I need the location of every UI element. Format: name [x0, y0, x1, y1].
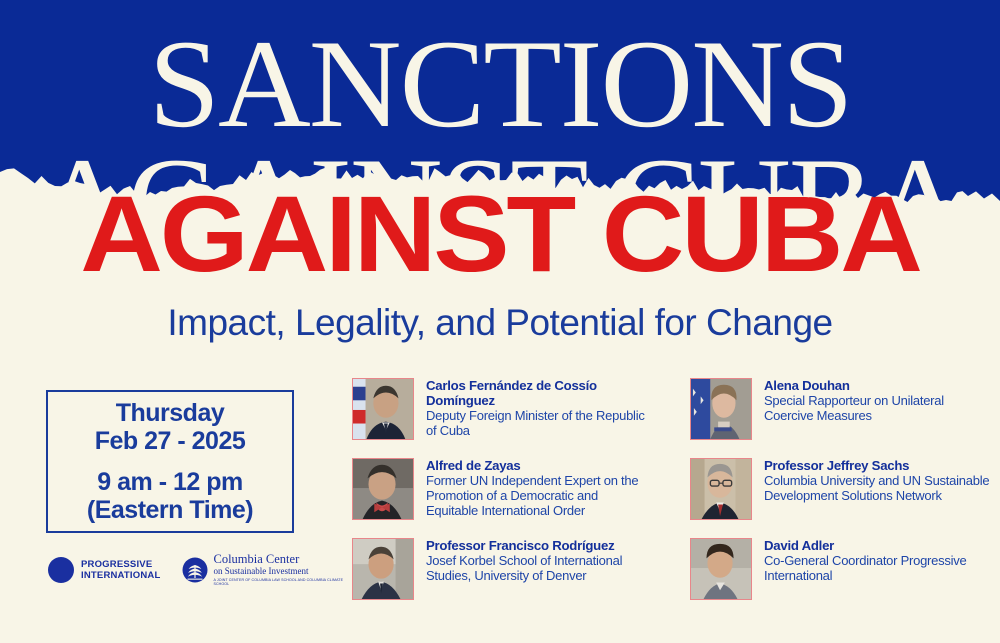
cc-logo-line-1: Columbia Center [213, 553, 348, 566]
speaker-text: David Adler Co-General Coordinator Progr… [764, 538, 990, 584]
speaker-item: Alfred de Zayas Former UN Independent Ex… [352, 458, 652, 520]
columbia-center-logo-text: Columbia Center on Sustainable Investmen… [213, 553, 348, 588]
progressive-international-logo: PROGRESSIVE INTERNATIONAL [48, 557, 160, 583]
cc-logo-line-3: A JOINT CENTER OF COLUMBIA LAW SCHOOL AN… [213, 578, 348, 588]
event-time: 9 am - 12 pm [87, 468, 253, 496]
speaker-name: Carlos Fernández de Cossío Domínguez [426, 379, 652, 409]
speaker-text: Professor Jeffrey Sachs Columbia Univers… [764, 458, 990, 504]
avatar [690, 378, 752, 440]
torn-blue-band: SANCTIONS AGAINST CUBA [0, 0, 1000, 215]
speaker-text: Carlos Fernández de Cossío Domínguez Dep… [426, 378, 652, 439]
speaker-item: Professor Jeffrey Sachs Columbia Univers… [690, 458, 990, 520]
circle-icon [48, 557, 74, 583]
avatar [690, 538, 752, 600]
avatar [352, 458, 414, 520]
speaker-item: Carlos Fernández de Cossío Domínguez Dep… [352, 378, 652, 440]
cc-logo-line-2: on Sustainable Investment [213, 566, 348, 577]
logo-row: PROGRESSIVE INTERNATIONAL [48, 548, 348, 592]
speaker-role: Former UN Independent Expert on the Prom… [426, 474, 652, 518]
speaker-role: Co-General Coordinator Progressive Inter… [764, 554, 990, 584]
event-day: Thursday [95, 399, 246, 427]
speaker-item: Alena Douhan Special Rapporteur on Unila… [690, 378, 990, 440]
avatar [352, 378, 414, 440]
speaker-role: Deputy Foreign Minister of the Republic … [426, 409, 652, 439]
pi-logo-line-2: INTERNATIONAL [81, 570, 160, 581]
avatar [690, 458, 752, 520]
avatar [352, 538, 414, 600]
headline-subtitle: Impact, Legality, and Potential for Chan… [0, 303, 1000, 344]
pi-logo-line-1: PROGRESSIVE [81, 559, 160, 570]
columbia-center-logo: Columbia Center on Sustainable Investmen… [182, 553, 348, 588]
fan-tree-icon [182, 557, 208, 583]
event-timezone: (Eastern Time) [87, 496, 253, 524]
speaker-text: Alfred de Zayas Former UN Independent Ex… [426, 458, 652, 519]
event-date-box: Thursday Feb 27 - 2025 9 am - 12 pm (Eas… [46, 390, 294, 533]
speaker-text: Professor Francisco Rodríguez Josef Korb… [426, 538, 652, 584]
headline-serif-line-1: SANCTIONS [0, 22, 1000, 148]
speaker-name: Professor Francisco Rodríguez [426, 539, 652, 554]
speaker-role: Special Rapporteur on Unilateral Coerciv… [764, 394, 990, 424]
speaker-name: David Adler [764, 539, 990, 554]
event-time-group: 9 am - 12 pm (Eastern Time) [87, 468, 253, 524]
headline-serif-group: SANCTIONS AGAINST CUBA [0, 0, 1000, 215]
speaker-name: Professor Jeffrey Sachs [764, 459, 990, 474]
speaker-name: Alena Douhan [764, 379, 990, 394]
speaker-text: Alena Douhan Special Rapporteur on Unila… [764, 378, 990, 424]
event-date-group: Thursday Feb 27 - 2025 [95, 399, 246, 455]
speaker-role: Josef Korbel School of International Stu… [426, 554, 652, 584]
speaker-role: Columbia University and UN Sustainable D… [764, 474, 990, 504]
speaker-name: Alfred de Zayas [426, 459, 652, 474]
speaker-grid: Carlos Fernández de Cossío Domínguez Dep… [352, 378, 972, 620]
speaker-column-right: Alena Douhan Special Rapporteur on Unila… [690, 378, 990, 618]
speaker-column-left: Carlos Fernández de Cossío Domínguez Dep… [352, 378, 652, 618]
speaker-item: David Adler Co-General Coordinator Progr… [690, 538, 990, 600]
speaker-item: Professor Francisco Rodríguez Josef Korb… [352, 538, 652, 600]
event-poster: AGAINST CUBA SANCTIONS AGAINST CUBA Impa… [0, 0, 1000, 643]
headline-serif-line-2: AGAINST CUBA [0, 140, 1000, 215]
progressive-international-logo-text: PROGRESSIVE INTERNATIONAL [81, 559, 160, 581]
event-date: Feb 27 - 2025 [95, 427, 246, 455]
